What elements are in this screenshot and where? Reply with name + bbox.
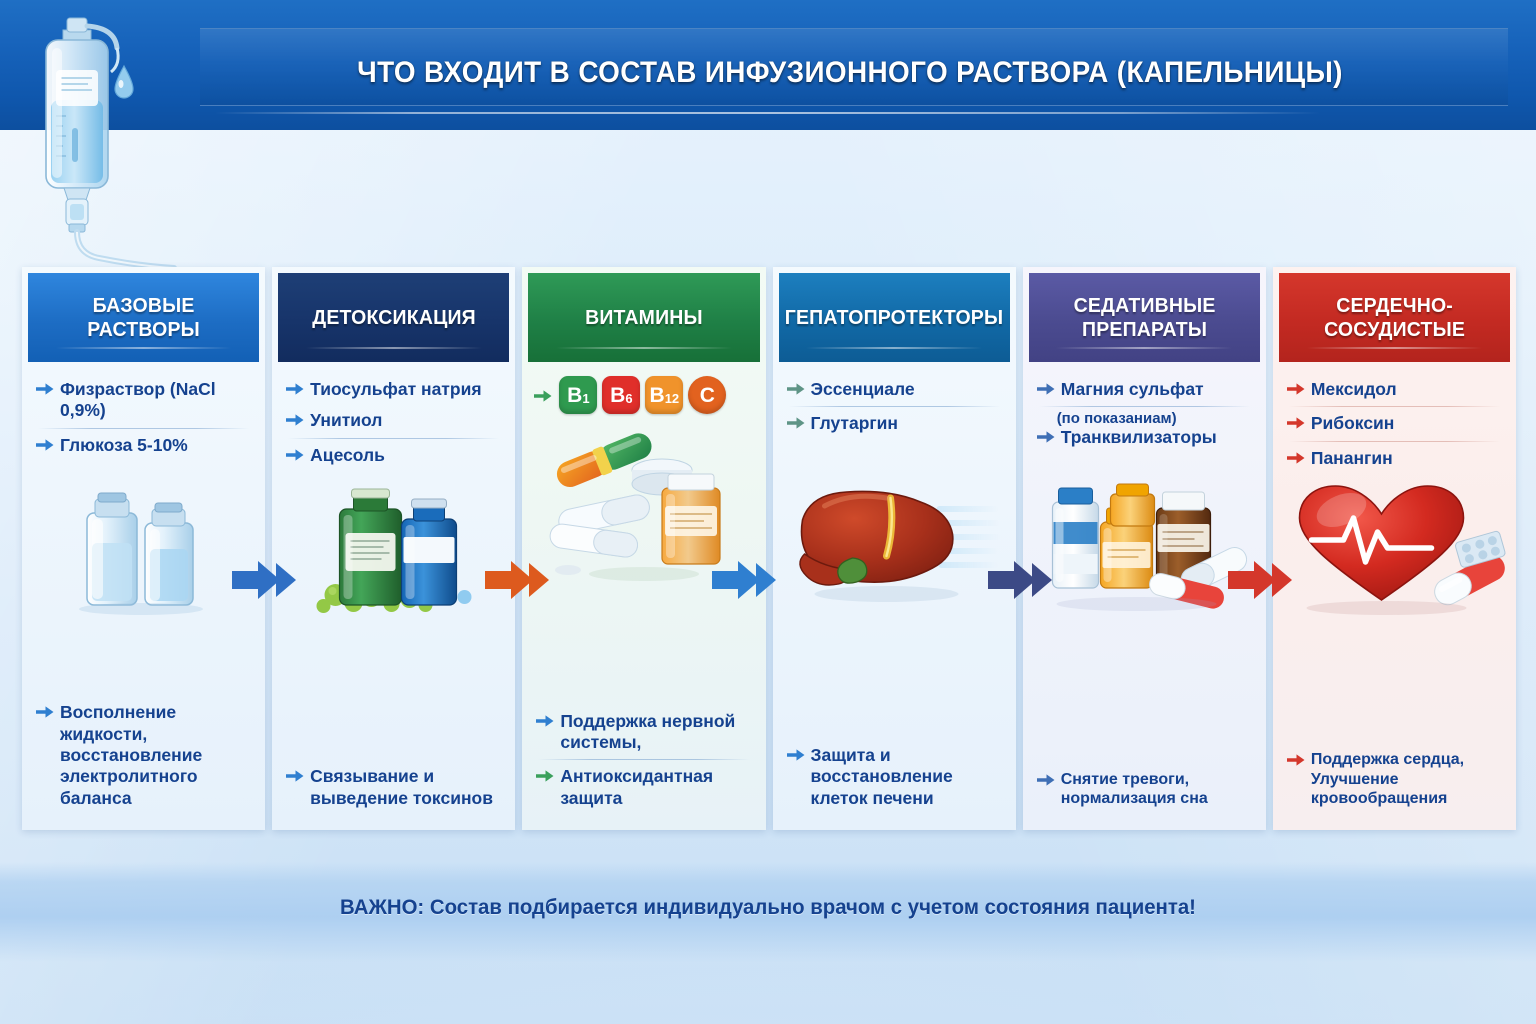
column-header-vitamins: ВИТАМИНЫ (528, 273, 759, 362)
vitamin-badge-b1: B1 (559, 376, 597, 414)
column-header-sedatives: СЕДАТИВНЫЕ ПРЕПАРАТЫ (1029, 273, 1260, 362)
list-item[interactable]: Эссенциале (785, 374, 1004, 405)
list-item[interactable]: Глюкоза 5-10% (34, 430, 253, 461)
connector-3 (712, 557, 778, 608)
list-item[interactable]: Панангин (1285, 443, 1504, 474)
divider (288, 438, 499, 439)
illustration-heart-ecg-icon (1285, 478, 1504, 618)
outcome-item[interactable]: Защита и восстановление клеток печени (785, 740, 1004, 814)
list-item-label: Мексидол (1311, 379, 1397, 400)
column-base-solutions: БАЗОВЫЕ РАСТВОРЫ Физраствор (NaCl 0,9%) … (22, 267, 265, 830)
outcome-label: Связывание и выведение токсинов (310, 766, 503, 809)
item-list-sedatives: Магния сульфат (по показаниам) Транквили… (1035, 374, 1254, 454)
arrow-right-icon (36, 705, 54, 719)
column-header-detoxification: ДЕТОКСИКАЦИЯ (278, 273, 509, 362)
arrow-right-icon (787, 748, 805, 762)
column-sedatives: СЕДАТИВНЫЕ ПРЕПАРАТЫ Магния сульфат (по … (1023, 267, 1266, 830)
arrow-right-icon (1037, 430, 1055, 444)
divider (1039, 406, 1250, 407)
arrow-right-icon (1287, 451, 1305, 465)
list-item-label: Магния сульфат (1061, 379, 1204, 400)
arrow-right-icon (286, 413, 304, 427)
outcome-list-sedatives: Снятие тревоги, нормализация сна (1035, 765, 1254, 830)
outcome-list-base-solutions: Восполнение жидкости, восстановление эле… (34, 697, 253, 830)
sedative-condition-note: (по показаниам) (1035, 408, 1254, 427)
outcome-item[interactable]: Антиоксидантная защита (534, 761, 753, 814)
list-item[interactable]: Глутаргин (785, 408, 1004, 439)
arrow-right-icon (787, 416, 805, 430)
item-list-cardiovascular: Мексидол Рибоксин Панангин (1285, 374, 1504, 474)
list-item[interactable]: Физраствор (NaCl 0,9%) (34, 374, 253, 427)
list-item-label: Транквилизаторы (1061, 427, 1217, 448)
list-item-label: Панангин (1311, 448, 1393, 469)
column-cardiovascular: СЕРДЕЧНО-СОСУДИСТЫЕ Мексидол Рибоксин Па… (1273, 267, 1516, 830)
outcome-label: Снятие тревоги, нормализация сна (1061, 770, 1254, 809)
outcome-label: Восполнение жидкости, восстановление эле… (60, 702, 253, 809)
outcome-label: Поддержка нервной системы, (560, 711, 753, 754)
divider (789, 406, 1000, 407)
outcome-list-hepatoprotectors: Защита и восстановление клеток печени (785, 740, 1004, 830)
divider (1289, 406, 1500, 407)
item-list-detoxification: Тиосульфат натрия Унитиол Ацесоль (284, 374, 503, 471)
illustration-iv-bottles-icon (34, 465, 253, 615)
category-columns: БАЗОВЫЕ РАСТВОРЫ Физраствор (NaCl 0,9%) … (22, 267, 1516, 830)
arrow-right-icon (36, 438, 54, 452)
connector-5 (1228, 557, 1294, 608)
list-item[interactable]: Мексидол (1285, 374, 1504, 405)
list-item-label: Эссенциале (811, 379, 915, 400)
outcome-list-detoxification: Связывание и выведение токсинов (284, 761, 503, 830)
vitamin-badge-b12: B12 (645, 376, 683, 414)
illustration-pill-bottles-icon (1035, 458, 1254, 616)
list-item[interactable]: Транквилизаторы (1035, 427, 1254, 453)
column-header-base-solutions: БАЗОВЫЕ РАСТВОРЫ (28, 273, 259, 362)
arrow-right-icon (1287, 416, 1305, 430)
vitamin-badge-c: C (688, 376, 726, 414)
arrow-right-icon (36, 382, 54, 396)
outcome-item[interactable]: Снятие тревоги, нормализация сна (1035, 765, 1254, 814)
vitamin-badge-b6: B6 (602, 376, 640, 414)
item-list-base-solutions: Физраствор (NaCl 0,9%) Глюкоза 5-10% (34, 374, 253, 461)
list-item-label: Унитиол (310, 410, 382, 431)
list-item-label: Тиосульфат натрия (310, 379, 481, 400)
column-header-hepatoprotectors: ГЕПАТОПРОТЕКТОРЫ (779, 273, 1010, 362)
arrow-right-icon (534, 389, 552, 403)
arrow-right-icon (536, 769, 554, 783)
arrow-right-icon (787, 382, 805, 396)
list-item-label: Глюкоза 5-10% (60, 435, 188, 456)
connector-1 (232, 557, 298, 608)
divider (1289, 441, 1500, 442)
arrow-right-icon (1037, 382, 1055, 396)
arrow-right-icon (1287, 382, 1305, 396)
list-item[interactable]: Унитиол (284, 405, 503, 436)
list-item-label: Глутаргин (811, 413, 899, 434)
outcome-list-vitamins: Поддержка нервной системы, Антиоксидантн… (534, 706, 753, 830)
arrow-right-icon (286, 448, 304, 462)
list-item[interactable]: Рибоксин (1285, 408, 1504, 439)
footer-note: ВАЖНО: Состав подбирается индивидуально … (23, 896, 1513, 920)
arrow-right-icon (1287, 753, 1305, 767)
arrow-right-icon (1037, 773, 1055, 787)
list-item-label: Физраствор (NaCl 0,9%) (60, 379, 253, 422)
page-header: ЧТО ВХОДИТ В СОСТАВ ИНФУЗИОННОГО РАСТВОР… (0, 0, 1536, 130)
outcome-item[interactable]: Поддержка сердца, Улучшение кровообращен… (1285, 745, 1504, 814)
vitamin-badge-row: B1 B6 B12 C (534, 374, 753, 414)
outcome-item[interactable]: Поддержка нервной системы, (534, 706, 753, 759)
outcome-item[interactable]: Связывание и выведение токсинов (284, 761, 503, 814)
outcome-label: Антиоксидантная защита (560, 766, 753, 809)
outcome-label: Защита и восстановление клеток печени (811, 745, 1004, 809)
arrow-right-icon (536, 714, 554, 728)
list-item[interactable]: Магния сульфат (1035, 374, 1254, 405)
divider (38, 428, 249, 429)
arrow-right-icon (286, 769, 304, 783)
page-title: ЧТО ВХОДИТ В СОСТАВ ИНФУЗИОННОГО РАСТВОР… (246, 56, 1455, 90)
column-vitamins: ВИТАМИНЫ B1 B6 B12 C (522, 267, 765, 830)
column-detoxification: ДЕТОКСИКАЦИЯ Тиосульфат натрия Унитиол А… (272, 267, 515, 830)
connector-4 (988, 557, 1054, 608)
iv-drip-bag-icon (18, 8, 228, 278)
column-header-cardiovascular: СЕРДЕЧНО-СОСУДИСТЫЕ (1279, 273, 1510, 362)
outcome-item[interactable]: Восполнение жидкости, восстановление эле… (34, 697, 253, 814)
outcome-list-cardiovascular: Поддержка сердца, Улучшение кровообращен… (1285, 745, 1504, 830)
illustration-liver-icon (785, 444, 1004, 614)
column-hepatoprotectors: ГЕПАТОПРОТЕКТОРЫ Эссенциале Глутаргин (773, 267, 1016, 830)
divider (538, 759, 749, 760)
outcome-label: Поддержка сердца, Улучшение кровообращен… (1311, 750, 1504, 809)
illustration-detox-bottles-icon (284, 475, 503, 625)
list-item-label: Ацесоль (310, 445, 385, 466)
connector-2 (485, 557, 551, 608)
item-list-hepatoprotectors: Эссенциале Глутаргин (785, 374, 1004, 440)
list-item-label: Рибоксин (1311, 413, 1395, 434)
header-underline (215, 112, 1320, 114)
arrow-right-icon (286, 382, 304, 396)
list-item[interactable]: Тиосульфат натрия (284, 374, 503, 405)
list-item[interactable]: Ацесоль (284, 440, 503, 471)
